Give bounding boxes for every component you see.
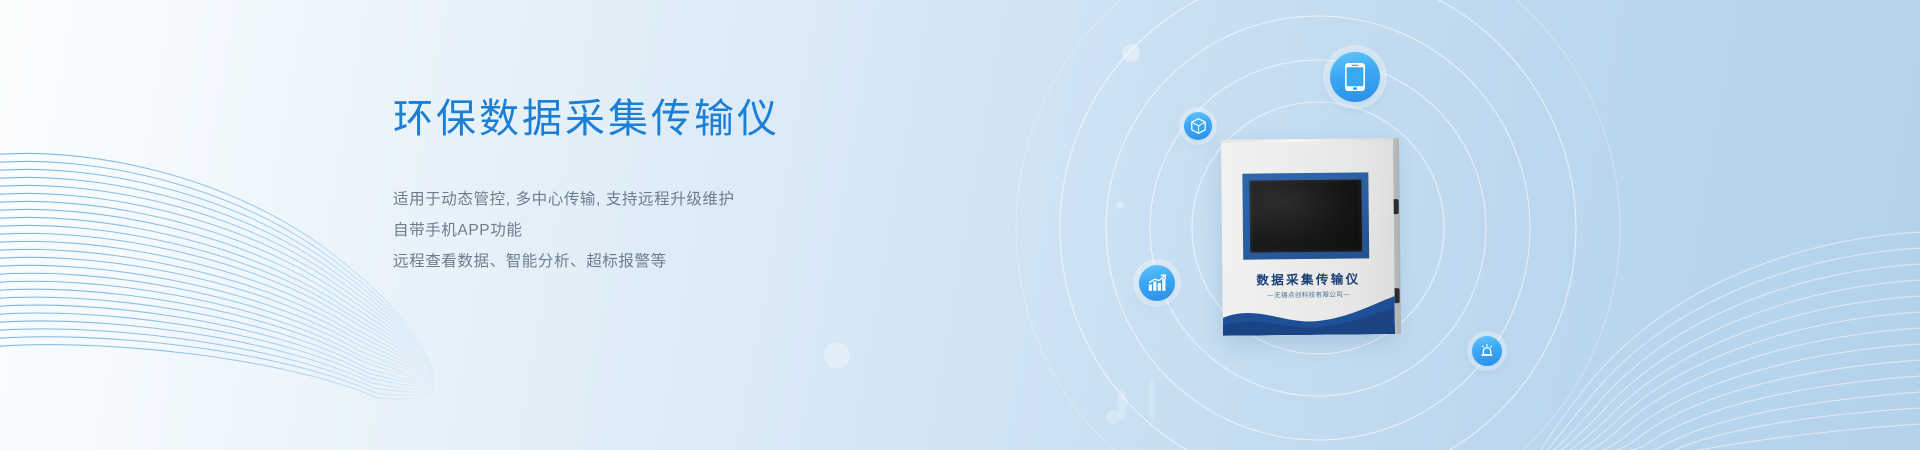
chart-icon[interactable]	[1139, 265, 1175, 301]
subtitle-line-2: 自带手机APP功能	[393, 215, 953, 246]
device-screen-bezel	[1242, 172, 1369, 259]
device-screen	[1249, 179, 1362, 252]
background-wave-lines	[0, 0, 1920, 450]
alarm-icon[interactable]	[1472, 336, 1502, 366]
cube-icon[interactable]	[1184, 112, 1212, 140]
subtitle-list: 适用于动态管控, 多中心传输, 支持远程升级维护 自带手机APP功能 远程查看数…	[393, 184, 953, 277]
subtitle-line-1: 适用于动态管控, 多中心传输, 支持远程升级维护	[393, 184, 953, 215]
banner-copy: 环保数据采集传输仪 适用于动态管控, 多中心传输, 支持远程升级维护 自带手机A…	[393, 96, 953, 277]
device-brand-label: 数据采集传输仪	[1222, 268, 1394, 289]
subtitle-line-3: 远程查看数据、智能分析、超标报警等	[393, 246, 953, 277]
device-top-edge	[1221, 138, 1393, 143]
device-body: 数据采集传输仪 —无锡点创科技有限公司—	[1221, 138, 1395, 336]
device-wave-graphic	[1223, 290, 1395, 336]
product-device: 数据采集传输仪 —无锡点创科技有限公司—	[1221, 138, 1401, 336]
background-bokeh-dots	[0, 0, 1920, 450]
page-title: 环保数据采集传输仪	[393, 96, 953, 142]
background-concentric-arcs	[0, 0, 1920, 450]
phone-icon[interactable]	[1330, 52, 1380, 102]
product-banner: 环保数据采集传输仪 适用于动态管控, 多中心传输, 支持远程升级维护 自带手机A…	[0, 0, 1920, 450]
background-corner-rays	[0, 0, 1920, 450]
